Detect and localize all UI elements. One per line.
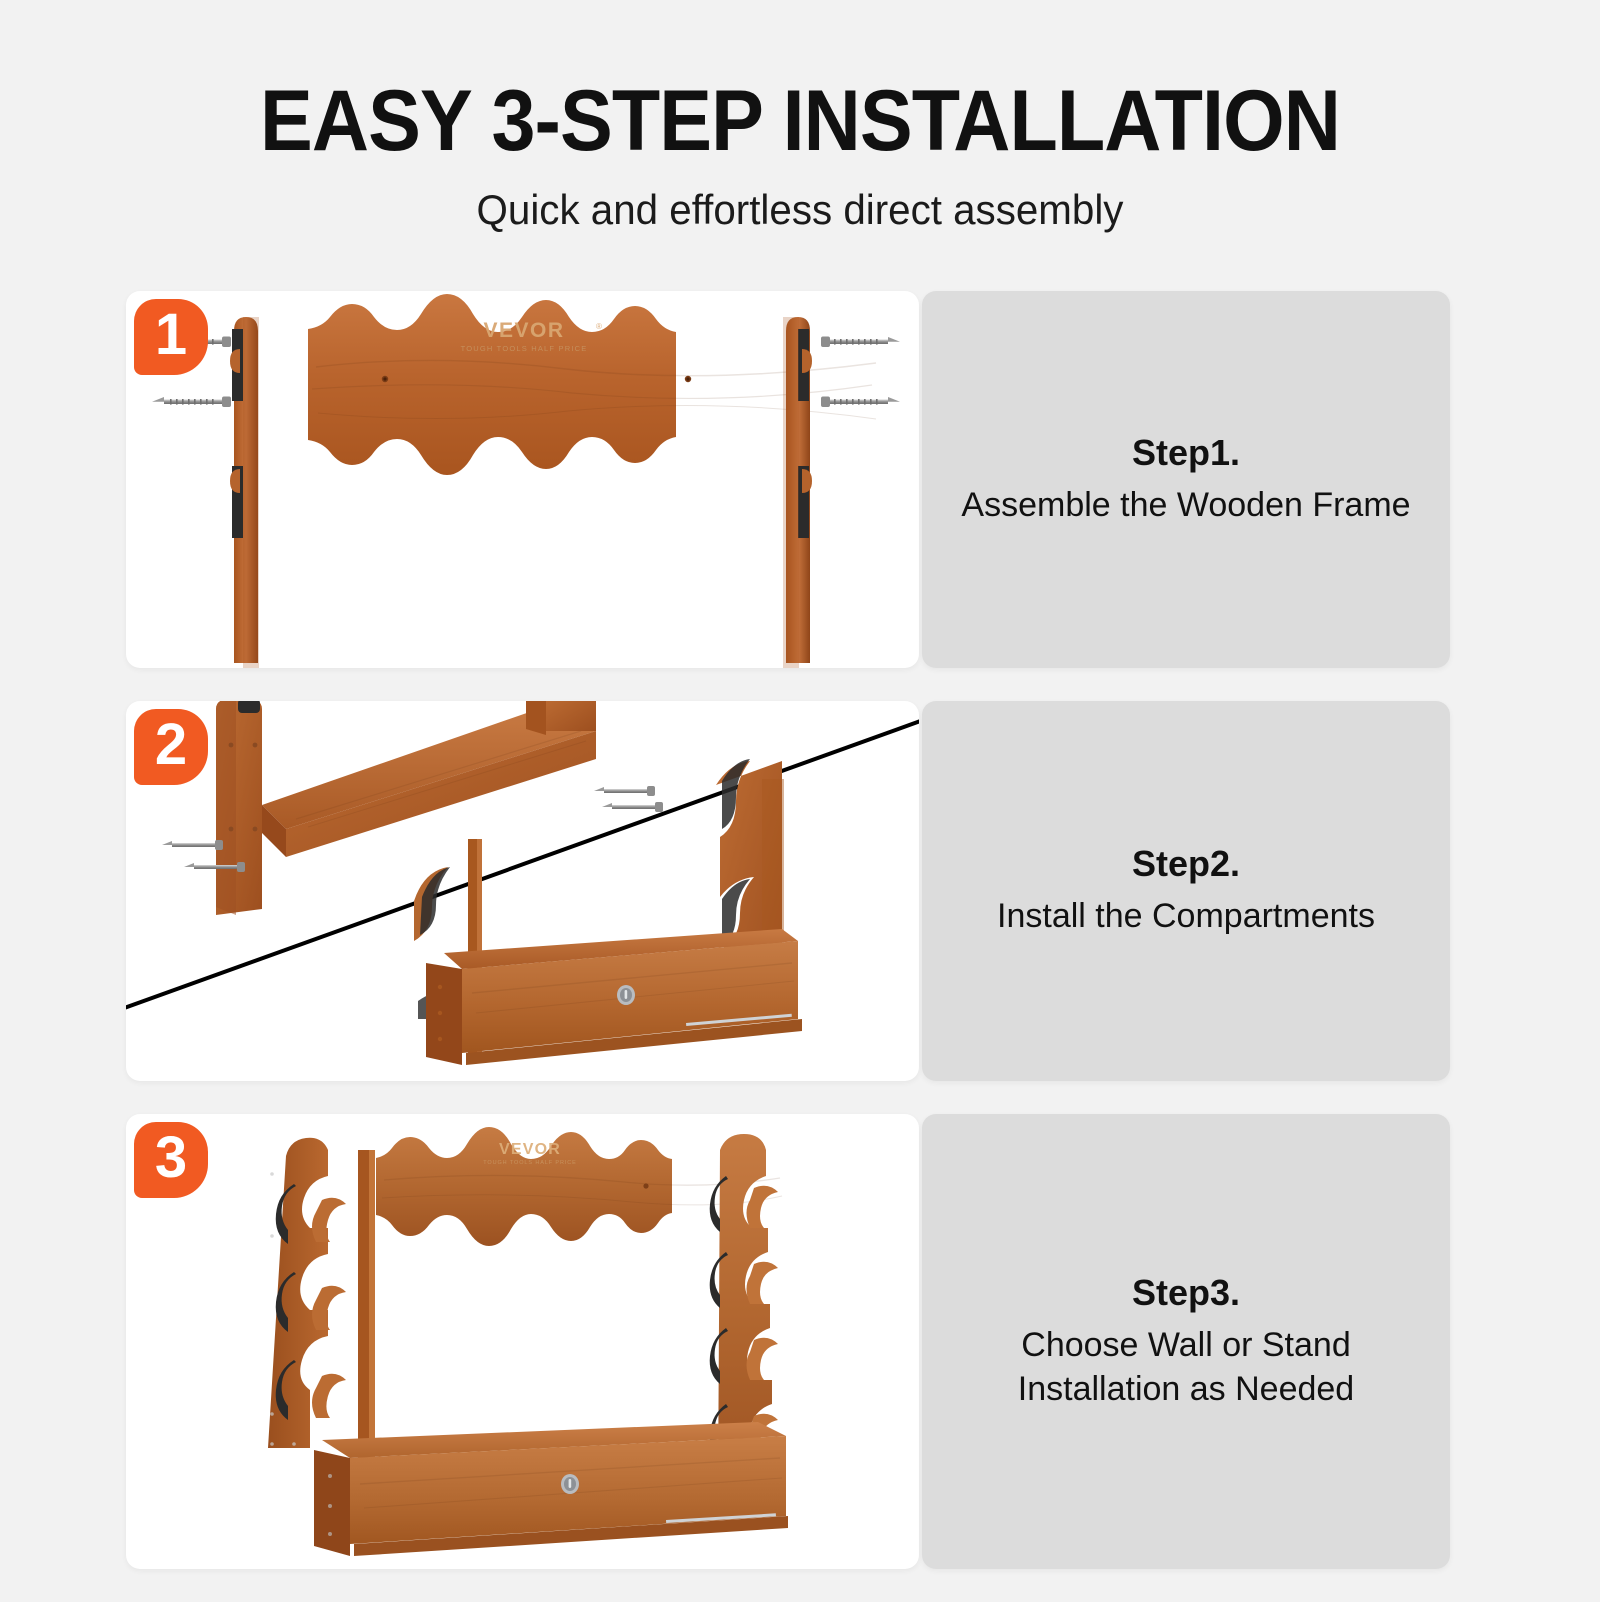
step-card-2: 2 Step2. Install the Compartments (126, 701, 1450, 1081)
step-badge-3: 3 (134, 1122, 208, 1198)
brand-logo: VEVOR (499, 1141, 561, 1158)
screw-icon (594, 786, 655, 796)
brand-tagline: TOUGH TOOLS HALF PRICE (483, 1160, 576, 1166)
step-3-image-panel: VEVOR TOUGH TOOLS HALF PRICE (126, 1114, 919, 1569)
step-1-heading: Step1. (1132, 432, 1240, 474)
u-shelf-assembly (162, 701, 663, 915)
brand-tagline: TOUGH TOOLS HALF PRICE (461, 344, 588, 353)
screw-icon (152, 397, 231, 408)
svg-text:®: ® (596, 322, 602, 331)
step-3-description-line-1: Choose Wall or Stand (1021, 1324, 1350, 1368)
drawer-lock-icon (561, 1474, 579, 1494)
page-title: EASY 3-STEP INSTALLATION (64, 78, 1536, 166)
step-2-image-panel: 2 (126, 701, 919, 1081)
step-1-illustration: VEVOR ® TOUGH TOOLS HALF PRICE (126, 291, 919, 668)
drawer-lock-icon (617, 985, 635, 1005)
right-side-rail (783, 317, 812, 668)
step-2-heading: Step2. (1132, 843, 1240, 885)
step-1-text-panel: Step1. Assemble the Wooden Frame (922, 291, 1450, 668)
screw-icon (821, 397, 900, 408)
brand-logo: VEVOR (483, 319, 564, 342)
step-2-text-panel: Step2. Install the Compartments (922, 701, 1450, 1081)
step-1-description: Assemble the Wooden Frame (961, 484, 1410, 528)
assembled-rack-with-drawer (410, 759, 802, 1065)
screw-icon (821, 337, 900, 348)
step-2-illustration (126, 701, 919, 1081)
step-3-description-line-2: Installation as Needed (1018, 1368, 1354, 1412)
step-badge-2: 2 (134, 709, 208, 785)
screw-icon (602, 802, 663, 812)
base-shelf-and-drawer (314, 1422, 788, 1556)
step-3-text-panel: Step3. Choose Wall or Stand Installation… (922, 1114, 1450, 1569)
step-3-heading: Step3. (1132, 1272, 1240, 1314)
left-side-rail (230, 317, 259, 668)
screw-icon (162, 840, 223, 850)
left-hook-rail (268, 1138, 346, 1448)
step-badge-1: 1 (134, 299, 208, 375)
steps-list: VEVOR ® TOUGH TOOLS HALF PRICE (126, 291, 1450, 1602)
step-card-3: VEVOR TOUGH TOOLS HALF PRICE (126, 1114, 1450, 1569)
step-2-description: Install the Compartments (997, 895, 1375, 939)
step-1-image-panel: VEVOR ® TOUGH TOOLS HALF PRICE (126, 291, 919, 668)
step-3-illustration: VEVOR TOUGH TOOLS HALF PRICE (126, 1114, 919, 1569)
step-card-1: VEVOR ® TOUGH TOOLS HALF PRICE (126, 291, 1450, 668)
header: EASY 3-STEP INSTALLATION Quick and effor… (0, 0, 1600, 234)
page-subtitle: Quick and effortless direct assembly (32, 186, 1568, 234)
